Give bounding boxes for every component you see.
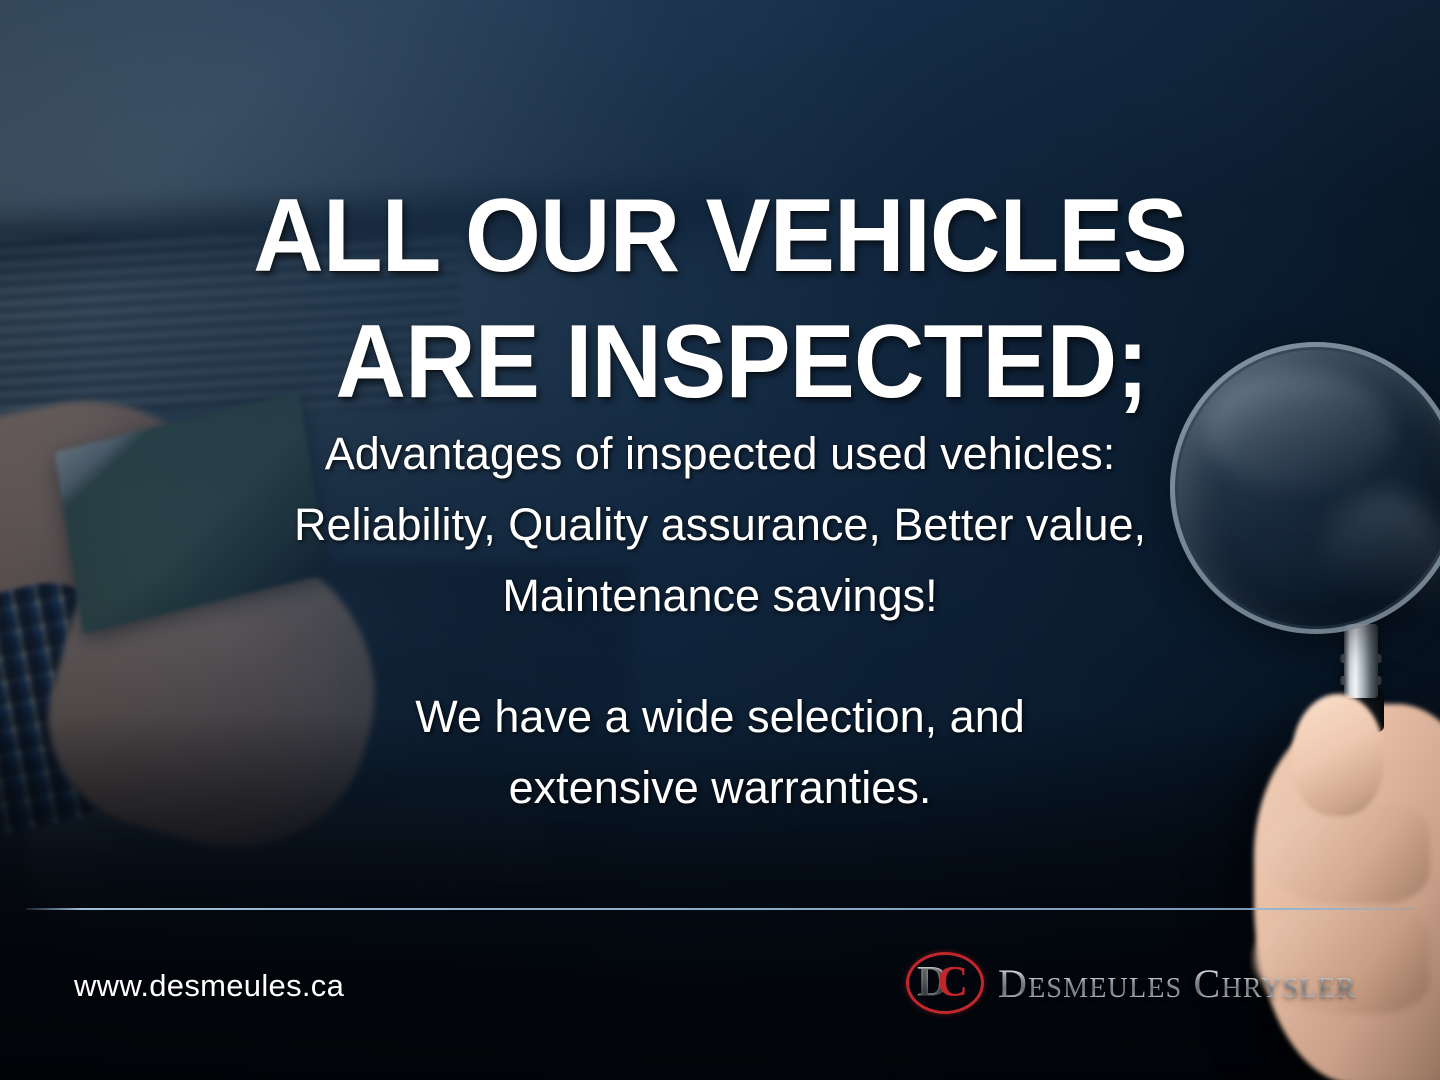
brand-logo[interactable]: D C Desmeules Chrysler (906, 952, 1356, 1014)
monogram-letter-c: C (937, 961, 968, 1004)
page-title: ALL OUR VEHICLES ARE INSPECTED; (43, 174, 1397, 426)
promo-slide: ALL OUR VEHICLES ARE INSPECTED; Advantag… (0, 0, 1440, 1080)
footer-divider (26, 908, 1416, 910)
slide-content: ALL OUR VEHICLES ARE INSPECTED; Advantag… (0, 0, 1440, 1080)
body-paragraph-1: Advantages of inspected used vehicles: R… (280, 418, 1160, 631)
body-paragraph-2: We have a wide selection, and extensive … (370, 681, 1070, 823)
headline-line-1: ALL OUR VEHICLES (43, 174, 1397, 300)
dc-monogram-icon: D C (906, 952, 984, 1014)
website-url[interactable]: www.desmeules.ca (74, 968, 344, 1004)
body-copy: Advantages of inspected used vehicles: R… (0, 418, 1440, 823)
headline-line-2: ARE INSPECTED; (43, 300, 1397, 426)
brand-wordmark: Desmeules Chrysler (998, 960, 1356, 1007)
